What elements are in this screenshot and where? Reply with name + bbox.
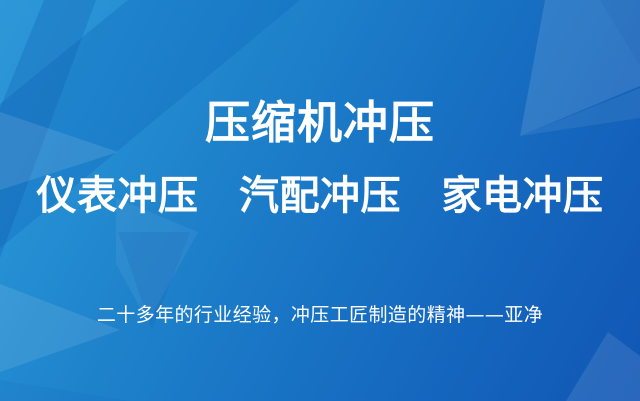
promo-banner: 压缩机冲压 仪表冲压 汽配冲压 家电冲压 二十多年的行业经验，冲压工匠制造的精神… [0, 0, 640, 401]
banner-headline-primary: 压缩机冲压 [0, 100, 640, 145]
banner-text-stack: 压缩机冲压 仪表冲压 汽配冲压 家电冲压 二十多年的行业经验，冲压工匠制造的精神… [0, 0, 640, 401]
banner-tagline: 二十多年的行业经验，冲压工匠制造的精神——亚净 [0, 306, 640, 325]
banner-headline-secondary: 仪表冲压 汽配冲压 家电冲压 [0, 176, 640, 216]
